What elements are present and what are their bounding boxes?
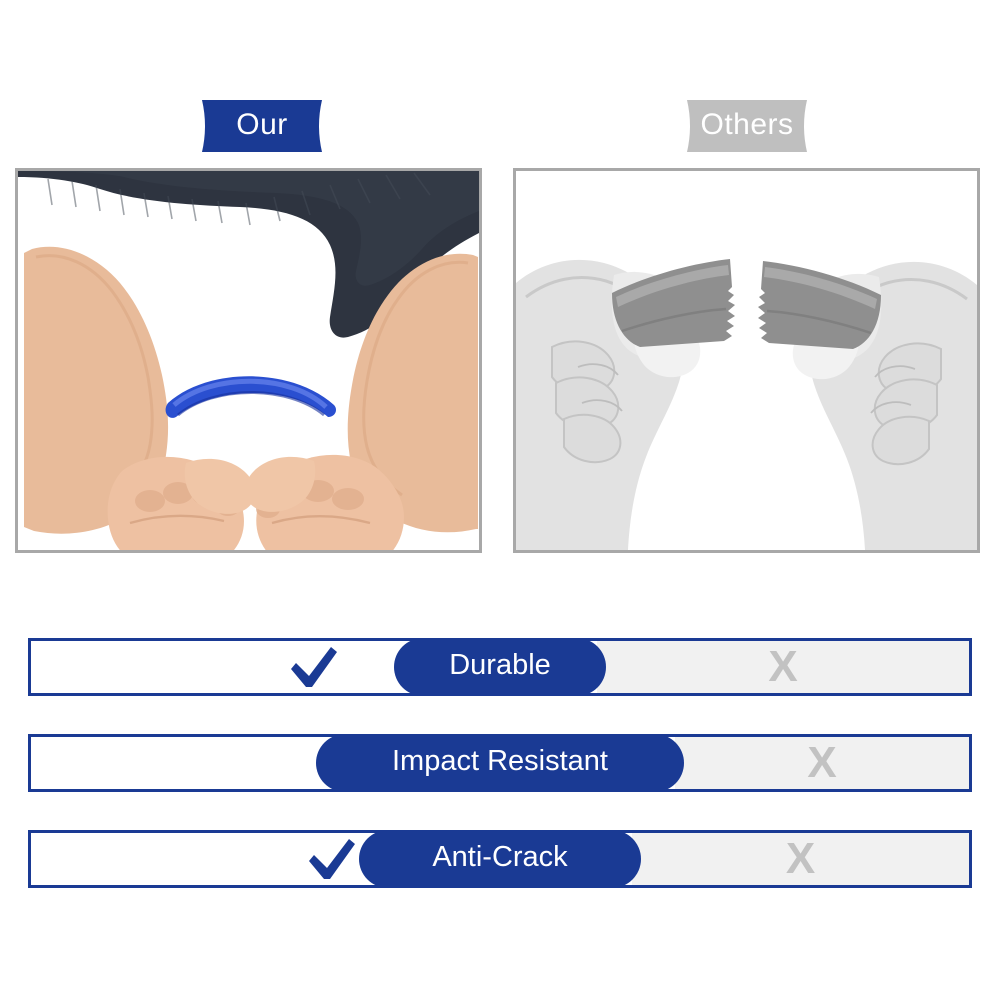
badge-others: Others <box>684 98 810 154</box>
feature-label: Durable <box>423 651 577 683</box>
others-cell: X <box>597 641 969 693</box>
badge-others-label: Others <box>700 110 793 142</box>
x-icon: X <box>786 837 815 881</box>
feature-label: Impact Resistant <box>366 747 634 779</box>
others-cell: X <box>675 737 969 789</box>
feature-row: X Durable <box>28 638 972 696</box>
feature-comparison-list: X Durable X Impact Resistant X Ant <box>28 638 972 926</box>
photo-ours-flexible-strip <box>18 171 479 550</box>
photo-others-broken-strip <box>516 171 977 550</box>
others-cell: X <box>632 833 969 885</box>
comparison-header: Our Others <box>0 98 1000 158</box>
feature-row: X Impact Resistant <box>28 734 972 792</box>
photo-panel-others <box>513 168 980 553</box>
feature-label-pill[interactable]: Anti-Crack <box>359 830 641 888</box>
feature-row: X Anti-Crack <box>28 830 972 888</box>
badge-ours-label: Our <box>236 110 288 142</box>
x-icon: X <box>768 645 797 689</box>
feature-label: Anti-Crack <box>406 843 593 875</box>
check-icon <box>287 645 341 689</box>
feature-label-pill[interactable]: Durable <box>394 638 606 696</box>
feature-label-pill[interactable]: Impact Resistant <box>316 734 684 792</box>
x-icon: X <box>807 741 836 785</box>
badge-ours: Our <box>199 98 325 154</box>
photo-panel-ours <box>15 168 482 553</box>
check-icon <box>305 837 359 881</box>
